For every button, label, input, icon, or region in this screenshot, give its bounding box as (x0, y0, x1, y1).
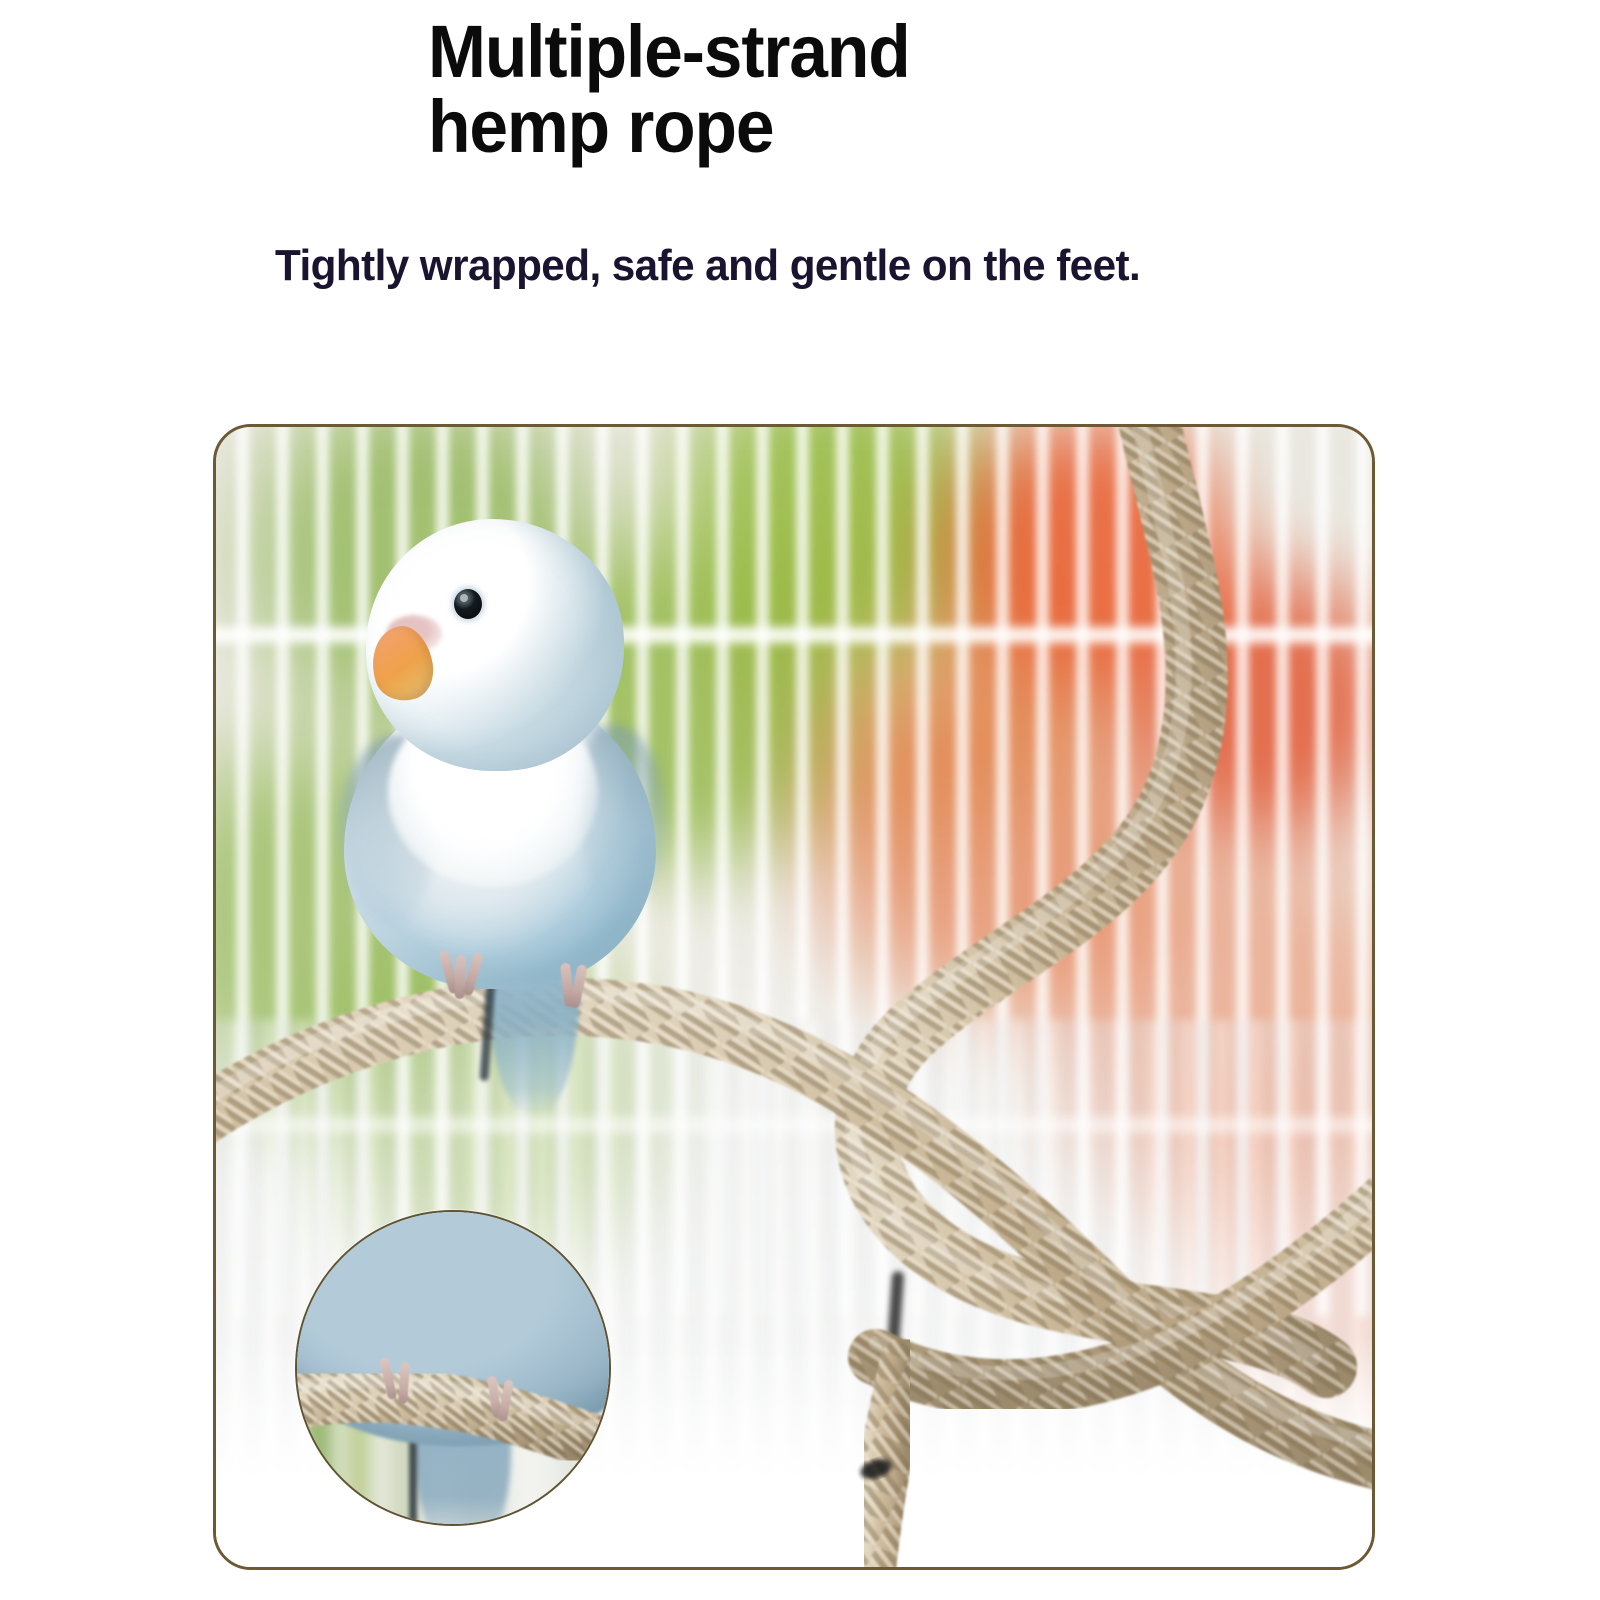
headline-block: Multiple-strand hemp rope (428, 14, 1188, 165)
inset-rope-svg (297, 1212, 609, 1524)
product-photo-frame (213, 424, 1375, 1570)
inset-inner (297, 1212, 609, 1524)
parrotlet-bird (336, 519, 666, 989)
product-feature-page: Multiple-strand hemp rope Tightly wrappe… (0, 0, 1600, 1600)
rope-s-curve (853, 427, 1326, 1367)
page-subtitle: Tightly wrapped, safe and gentle on the … (275, 241, 1331, 291)
photo-stage (216, 427, 1372, 1567)
inset-rope-perch (297, 1381, 609, 1453)
page-title: Multiple-strand hemp rope (428, 14, 1142, 165)
feet-closeup-inset (295, 1210, 611, 1526)
bird-eye (454, 589, 482, 619)
